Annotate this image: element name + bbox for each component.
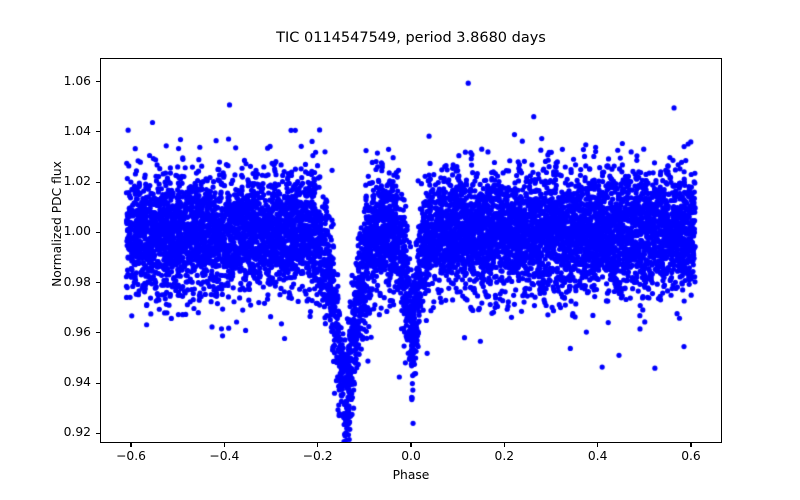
scatter-points-layer bbox=[101, 59, 722, 443]
x-axis-label: Phase bbox=[100, 468, 722, 482]
x-tick-label: 0.6 bbox=[661, 449, 721, 463]
y-tick-mark bbox=[96, 332, 100, 333]
y-tick-mark bbox=[96, 433, 100, 434]
y-tick-label: 0.92 bbox=[31, 425, 91, 439]
x-tick-label: −0.2 bbox=[288, 449, 348, 463]
x-tick-mark bbox=[224, 443, 225, 447]
y-tick-label: 1.00 bbox=[31, 224, 91, 238]
y-tick-mark bbox=[96, 232, 100, 233]
y-tick-mark bbox=[96, 131, 100, 132]
y-tick-label: 0.98 bbox=[31, 275, 91, 289]
x-tick-label: 0.0 bbox=[381, 449, 441, 463]
figure-canvas: TIC 0114547549, period 3.8680 days Norma… bbox=[0, 0, 800, 500]
x-tick-mark bbox=[410, 443, 411, 447]
x-tick-label: −0.6 bbox=[101, 449, 161, 463]
y-tick-label: 0.94 bbox=[31, 375, 91, 389]
y-tick-mark bbox=[96, 182, 100, 183]
x-tick-mark bbox=[317, 443, 318, 447]
y-tick-label: 1.04 bbox=[31, 124, 91, 138]
y-tick-label: 0.96 bbox=[31, 325, 91, 339]
y-tick-label: 1.02 bbox=[31, 174, 91, 188]
y-tick-mark bbox=[96, 81, 100, 82]
y-tick-mark bbox=[96, 282, 100, 283]
x-tick-mark bbox=[690, 443, 691, 447]
y-tick-label: 1.06 bbox=[31, 74, 91, 88]
y-tick-mark bbox=[96, 383, 100, 384]
x-tick-label: 0.4 bbox=[568, 449, 628, 463]
x-tick-label: −0.4 bbox=[194, 449, 254, 463]
x-tick-mark bbox=[130, 443, 131, 447]
plot-axes-frame bbox=[100, 58, 722, 443]
x-tick-label: 0.2 bbox=[474, 449, 534, 463]
chart-title: TIC 0114547549, period 3.8680 days bbox=[100, 30, 722, 46]
x-tick-mark bbox=[504, 443, 505, 447]
x-tick-mark bbox=[597, 443, 598, 447]
